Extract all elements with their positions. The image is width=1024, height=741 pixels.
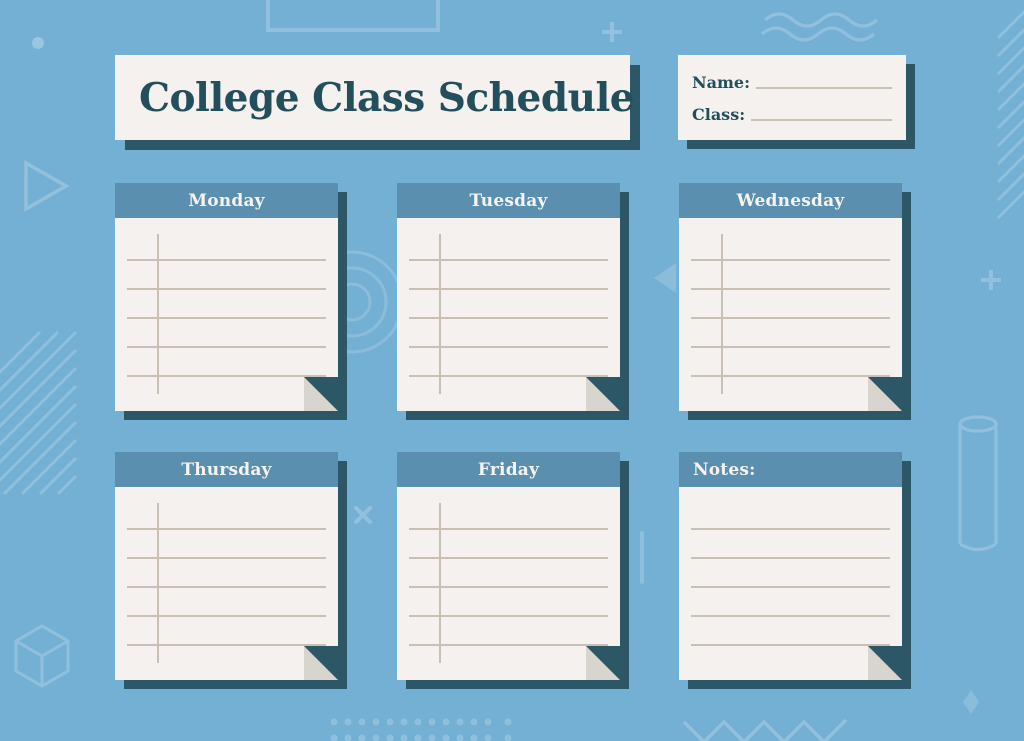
rule-line [691, 644, 890, 646]
note-card-friday[interactable]: Friday [397, 452, 620, 680]
plus-top-icon [602, 22, 622, 42]
rectangle-outline-top-icon [268, 0, 438, 30]
cylinder-outline-right-icon [960, 417, 996, 550]
diagonal-hatch-right-icon [998, 6, 1024, 218]
note-card-tuesday[interactable]: Tuesday [397, 183, 620, 411]
note-card-monday[interactable]: Monday [115, 183, 338, 411]
name-row: Name: [692, 69, 892, 91]
diamond-bottom-right-icon [963, 690, 979, 714]
rule-line [409, 557, 608, 559]
note-card-title: Wednesday [679, 183, 902, 218]
rule-line [691, 288, 890, 290]
vertical-rule [157, 234, 159, 394]
folded-corner-icon [868, 377, 902, 411]
title-card: College Class Schedule [115, 55, 630, 140]
cross-mark-center-icon [356, 508, 370, 522]
rule-line [691, 346, 890, 348]
title-card-sheet: College Class Schedule [115, 55, 630, 140]
folded-corner-icon [304, 377, 338, 411]
note-card-notes[interactable]: Notes: [679, 452, 902, 680]
info-card-sheet: Name: Class: [678, 55, 906, 140]
vertical-rule [439, 234, 441, 394]
rule-line [127, 586, 326, 588]
class-label: Class: [692, 107, 745, 123]
rule-line [127, 346, 326, 348]
rule-line [691, 615, 890, 617]
rule-line [127, 288, 326, 290]
triangle-outline-left-icon [26, 163, 66, 209]
vertical-rule [439, 503, 441, 663]
note-card-thursday[interactable]: Thursday [115, 452, 338, 680]
rule-line [409, 346, 608, 348]
rule-line [409, 644, 608, 646]
rule-line [691, 528, 890, 530]
rule-line [691, 586, 890, 588]
rule-line [691, 317, 890, 319]
note-card-wednesday[interactable]: Wednesday [679, 183, 902, 411]
rule-line [691, 557, 890, 559]
note-card-title: Tuesday [397, 183, 620, 218]
note-card-body[interactable] [115, 218, 338, 411]
rule-line [127, 615, 326, 617]
rule-line [409, 615, 608, 617]
rule-line [127, 375, 326, 377]
rule-line [409, 317, 608, 319]
rule-line [409, 375, 608, 377]
rule-line [409, 259, 608, 261]
class-row: Class: [692, 101, 892, 123]
rule-line [127, 317, 326, 319]
zigzag-bottom-icon [684, 720, 846, 741]
dot-top-left-icon [32, 37, 44, 49]
rule-line [691, 375, 890, 377]
note-card-title: Friday [397, 452, 620, 487]
page-title: College Class Schedule [139, 55, 620, 140]
info-card: Name: Class: [678, 55, 906, 140]
note-card-body[interactable] [397, 487, 620, 680]
note-card-title: Monday [115, 183, 338, 218]
name-label: Name: [692, 75, 750, 91]
note-card-body[interactable] [679, 487, 902, 680]
folded-corner-icon [304, 646, 338, 680]
folded-corner-icon [586, 646, 620, 680]
note-card-body[interactable] [679, 218, 902, 411]
folded-corner-icon [868, 646, 902, 680]
triangle-pointer-left-icon [654, 263, 676, 293]
diagonal-hatch-left-icon [0, 332, 76, 494]
plus-right-icon [981, 270, 1001, 290]
wavy-lines-top-right-icon [762, 14, 877, 40]
dot-grid-bottom-icon [331, 719, 512, 741]
rule-line [127, 259, 326, 261]
cube-outline-bottom-left-icon [16, 626, 68, 686]
vertical-rule [157, 503, 159, 663]
rule-line [409, 528, 608, 530]
schedule-page: College Class Schedule Name: Class: Mond… [0, 0, 1024, 741]
class-write-line[interactable] [751, 119, 892, 121]
note-card-title: Thursday [115, 452, 338, 487]
note-card-title: Notes: [679, 452, 902, 487]
name-write-line[interactable] [756, 87, 892, 89]
rule-line [691, 259, 890, 261]
rule-line [127, 644, 326, 646]
note-card-body[interactable] [115, 487, 338, 680]
rule-line [127, 557, 326, 559]
note-card-body[interactable] [397, 218, 620, 411]
rule-line [409, 586, 608, 588]
folded-corner-icon [586, 377, 620, 411]
rule-line [127, 528, 326, 530]
vertical-rule [721, 234, 723, 394]
rule-line [409, 288, 608, 290]
